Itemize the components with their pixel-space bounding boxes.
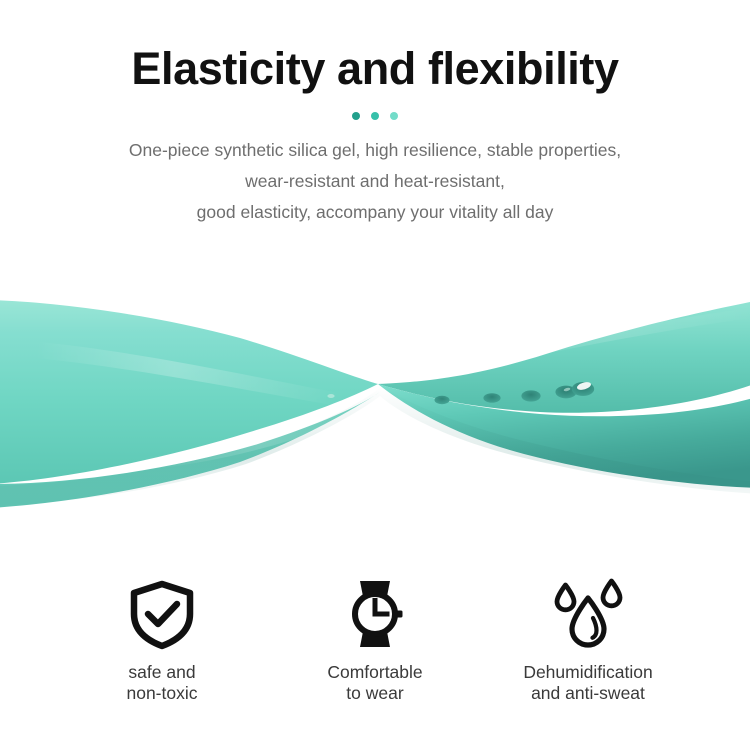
- feature-item-safe: safe and non-toxic: [62, 578, 262, 704]
- feature-item-dehumidification: Dehumidification and anti-sweat: [488, 578, 688, 704]
- subtitle-line-1: One-piece synthetic silica gel, high res…: [0, 135, 750, 166]
- decorative-dots: [0, 111, 750, 121]
- feature-item-comfortable: Comfortable to wear: [275, 578, 475, 704]
- band-surface-speck: [327, 394, 334, 398]
- band-hole-1: [435, 396, 450, 404]
- header: Elasticity and flexibility One-piece syn…: [0, 0, 750, 228]
- band-hole-3: [521, 390, 540, 401]
- water-droplets-icon: [552, 578, 624, 650]
- feature-label-dehumidification: Dehumidification and anti-sweat: [523, 662, 652, 704]
- dot-2-icon: [371, 112, 379, 120]
- product-feature-page: Elasticity and flexibility One-piece syn…: [0, 0, 750, 750]
- feature-label-comfortable-line-1: Comfortable: [327, 662, 422, 683]
- dot-3-icon: [390, 112, 398, 120]
- feature-label-comfortable-line-2: to wear: [327, 683, 422, 704]
- subtitle-line-3: good elasticity, accompany your vitality…: [0, 197, 750, 228]
- feature-icon-wrapper: [552, 578, 624, 650]
- twisted-silicone-watch-band-illustration: [0, 272, 750, 522]
- subtitle: One-piece synthetic silica gel, high res…: [0, 121, 750, 228]
- feature-label-dehumidification-line-1: Dehumidification: [523, 662, 652, 683]
- feature-label-safe-line-2: non-toxic: [126, 683, 197, 704]
- subtitle-line-2: wear-resistant and heat-resistant,: [0, 166, 750, 197]
- wristwatch-icon: [339, 578, 411, 650]
- product-image: [0, 272, 750, 522]
- shield-check-icon: [126, 578, 198, 650]
- feature-icon-wrapper: [339, 578, 411, 650]
- page-title: Elasticity and flexibility: [0, 0, 750, 94]
- band-hole-2: [483, 393, 500, 403]
- feature-list: safe and non-toxic: [0, 578, 750, 704]
- feature-label-comfortable: Comfortable to wear: [327, 662, 422, 704]
- feature-label-safe-line-1: safe and: [126, 662, 197, 683]
- feature-label-dehumidification-line-2: and anti-sweat: [523, 683, 652, 704]
- dot-1-icon: [352, 112, 360, 120]
- feature-icon-wrapper: [126, 578, 198, 650]
- feature-label-safe: safe and non-toxic: [126, 662, 197, 704]
